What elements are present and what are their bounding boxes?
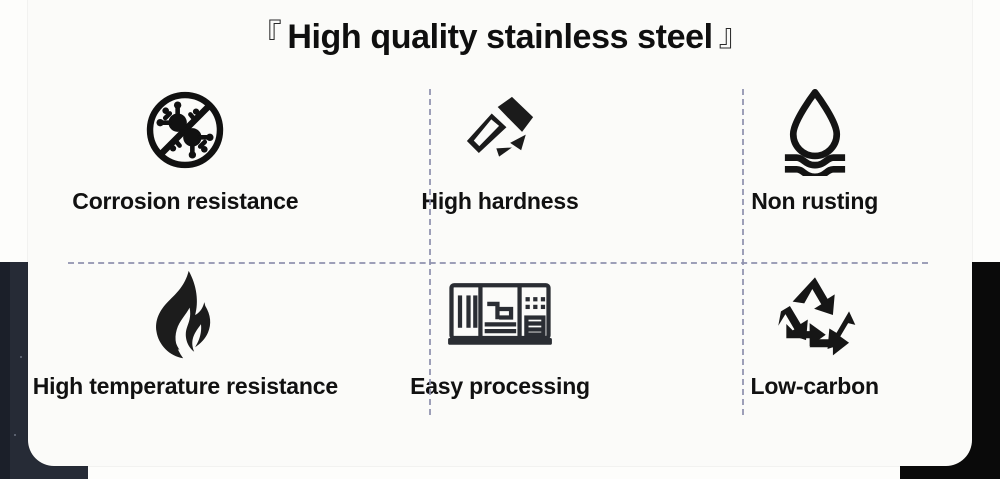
- vertical-divider-1: [429, 89, 431, 415]
- feature-label: High hardness: [421, 188, 578, 215]
- page-backdrop-left-strip: [0, 262, 10, 479]
- hammer-icon: [452, 82, 548, 178]
- feature-label: Corrosion resistance: [72, 188, 298, 215]
- bracket-open: 『: [245, 18, 288, 53]
- feature-grid: Corrosion resistance High hardness: [28, 56, 972, 426]
- feature-item-non-rusting: Non rusting: [657, 56, 972, 241]
- feature-card: 『High quality stainless steel』: [28, 0, 972, 466]
- feature-item-easy-processing: Easy processing: [343, 241, 658, 426]
- recycle-icon: [769, 267, 861, 363]
- feature-label: Easy processing: [410, 373, 590, 400]
- feature-item-high-temperature-resistance: High temperature resistance: [28, 241, 343, 426]
- flame-icon: [146, 267, 224, 363]
- no-germs-icon: [139, 82, 231, 178]
- page-title-text: High quality stainless steel: [287, 18, 712, 56]
- backdrop-speck: [14, 434, 16, 436]
- feature-label: Low-carbon: [750, 373, 878, 400]
- feature-item-corrosion-resistance: Corrosion resistance: [28, 56, 343, 241]
- feature-label: Non rusting: [751, 188, 878, 215]
- horizontal-divider: [68, 262, 928, 264]
- screenshot-stage: 『High quality stainless steel』: [0, 0, 1000, 479]
- vertical-divider-2: [742, 89, 744, 415]
- page-title: 『High quality stainless steel』: [28, 12, 972, 57]
- bracket-close: 』: [713, 18, 756, 53]
- feature-item-low-carbon: Low-carbon: [657, 241, 972, 426]
- water-drop-icon: [773, 82, 857, 178]
- cnc-machine-icon: [444, 267, 556, 363]
- backdrop-speck: [20, 356, 22, 358]
- feature-label: High temperature resistance: [33, 373, 338, 400]
- feature-item-high-hardness: High hardness: [343, 56, 658, 241]
